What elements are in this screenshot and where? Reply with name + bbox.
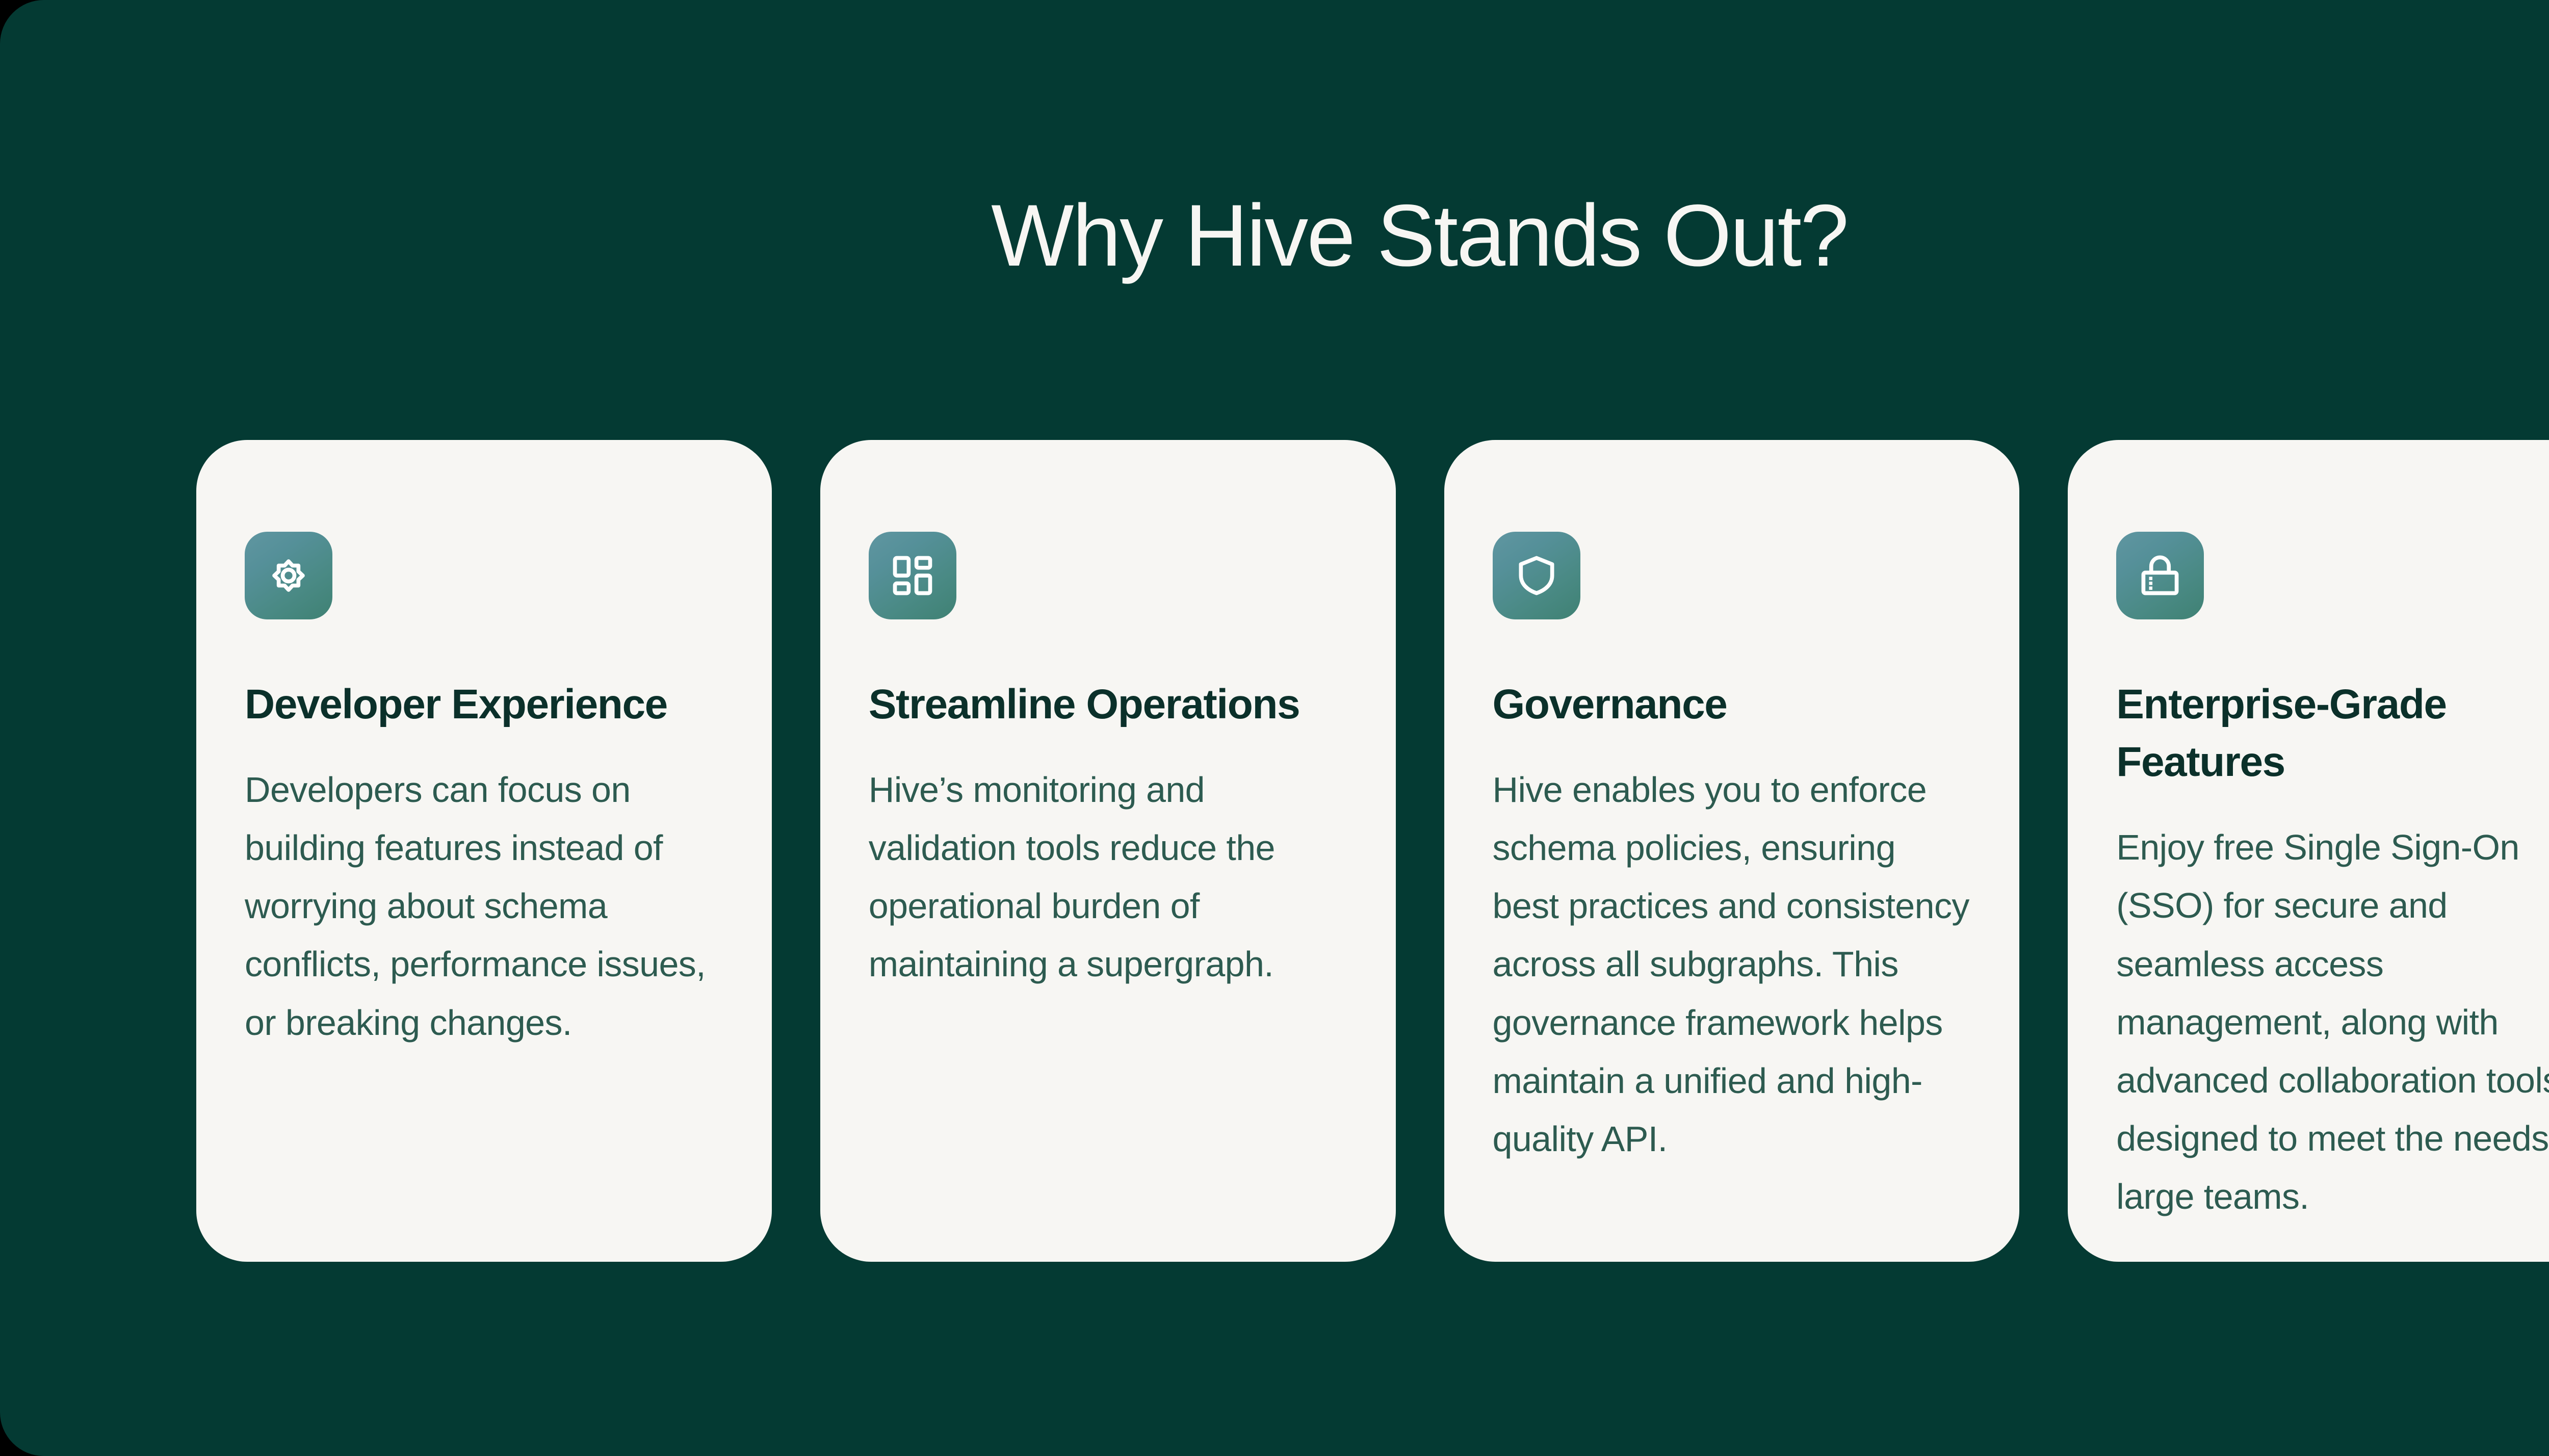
feature-card-body: Hive enables you to enforce schema polic…	[1493, 761, 1971, 1168]
dashboard-grid-icon	[869, 532, 956, 619]
shield-icon	[1493, 532, 1580, 619]
feature-card-streamline-operations[interactable]: Streamline Operations Hive’s monitoring …	[820, 440, 1396, 1262]
feature-card-body: Hive’s monitoring and validation tools r…	[869, 761, 1347, 993]
lock-icon	[2116, 532, 2204, 619]
feature-card-developer-experience[interactable]: Developer Experience Developers can focu…	[196, 440, 772, 1262]
feature-card-body: Developers can focus on building feature…	[245, 761, 723, 1051]
page-title: Why Hive Stands Out?	[0, 190, 2549, 282]
feature-card-title: Governance	[1493, 675, 1971, 733]
feature-card-governance[interactable]: Governance Hive enables you to enforce s…	[1444, 440, 2020, 1262]
feature-card-enterprise-grade-features[interactable]: Enterprise-Grade Features Enjoy free Sin…	[2068, 440, 2549, 1262]
screenshot-stage: Why Hive Stands Out? Developer Experienc…	[0, 0, 2549, 1456]
feature-card-body: Enjoy free Single Sign-On (SSO) for secu…	[2116, 818, 2549, 1226]
feature-card-title: Developer Experience	[245, 675, 723, 733]
gear-settings-icon	[245, 532, 332, 619]
feature-card-row: Developer Experience Developers can focu…	[196, 440, 2549, 1262]
feature-card-title: Streamline Operations	[869, 675, 1347, 733]
features-section-panel: Why Hive Stands Out? Developer Experienc…	[0, 0, 2549, 1456]
feature-card-title: Enterprise-Grade Features	[2116, 675, 2549, 791]
